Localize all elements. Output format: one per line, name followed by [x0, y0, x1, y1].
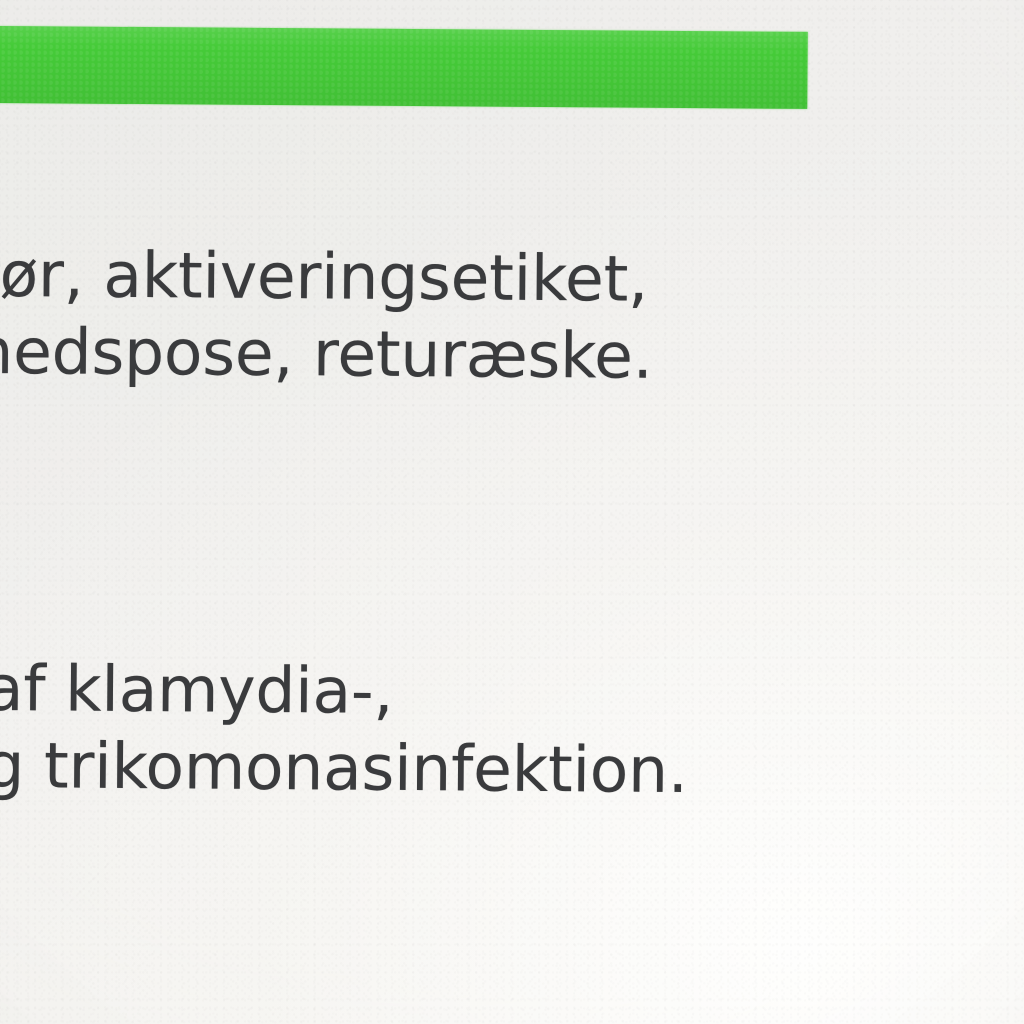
printed-artwork-layer: rør, aktiveringsetiket, nedspose, returæ…	[0, 0, 1024, 1024]
indication-line-2: g trikomonasinfektion.	[0, 727, 688, 809]
indication-line-1: af klamydia-,	[0, 650, 689, 732]
indication-text-block: af klamydia-, g trikomonasinfektion.	[0, 650, 689, 809]
packaging-photo-canvas: rør, aktiveringsetiket, nedspose, returæ…	[0, 0, 1024, 1024]
contents-text-block: rør, aktiveringsetiket, nedspose, returæ…	[0, 236, 653, 395]
contents-line-1: rør, aktiveringsetiket,	[0, 236, 653, 318]
contents-line-2: nedspose, returæske.	[0, 313, 653, 395]
green-divider-band	[0, 26, 808, 109]
